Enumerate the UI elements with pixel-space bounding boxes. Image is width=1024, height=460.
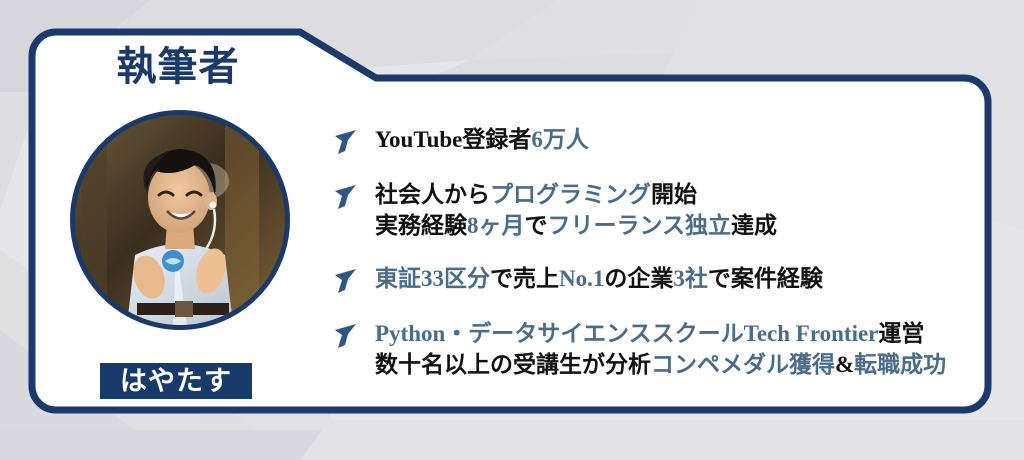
highlighted-text: 6万人 [531,127,589,152]
author-profile-banner: 執筆者 [0,0,1024,460]
highlighted-text: Python・データサイエンススクールTech Frontier [375,321,878,346]
list-item-text: 東証33区分で売上No.1の企業3社で案件経験 [375,263,983,294]
list-item: 社会人からプログラミング開始 実務経験8ヶ月でフリーランス独立達成 [333,179,983,241]
plain-text: YouTube登録者 [375,127,531,152]
cursor-arrow-icon [333,321,359,351]
highlighted-text: フリーランス独立 [548,213,732,238]
avatar-photo [75,115,285,325]
avatar [70,110,290,330]
cursor-arrow-icon [333,266,359,296]
list-item: YouTube登録者6万人 [333,124,983,157]
credentials-list: YouTube登録者6万人 社会人からプログラミング開始 実務経験8ヶ月でフリー… [333,124,983,402]
highlighted-text: プログラミング [490,182,651,207]
plain-text: で [525,213,548,238]
author-card: 執筆者 [28,28,996,418]
highlighted-text: 東証33区分 [375,266,490,291]
author-identity-column: 執筆者 [28,28,328,418]
plain-text: 実務経験 [375,213,467,238]
page-title: 執筆者 [28,44,328,90]
plain-text: で案件経験 [708,266,823,291]
cursor-arrow-icon [333,127,359,157]
plain-text: 社会人から [375,182,490,207]
list-item-text: 社会人からプログラミング開始 実務経験8ヶ月でフリーランス独立達成 [375,179,983,241]
list-item: Python・データサイエンススクールTech Frontier運営 数十名以上… [333,318,983,380]
list-item-text: YouTube登録者6万人 [375,124,983,155]
author-name-badge: はやたす [100,363,252,399]
plain-text: 運営 [878,321,924,346]
plain-text: の企業 [604,266,673,291]
highlighted-text: 8ヶ月 [467,213,525,238]
plain-text: & [835,352,854,377]
plain-text: 達成 [731,213,777,238]
plain-text: 開始 [651,182,697,207]
highlighted-text: No.1 [559,266,604,291]
highlighted-text: 転職成功 [854,352,946,377]
list-item-text: Python・データサイエンススクールTech Frontier運営 数十名以上… [375,318,983,380]
plain-text: で売上 [490,266,559,291]
highlighted-text: コンペメダル獲得 [651,352,835,377]
list-item: 東証33区分で売上No.1の企業3社で案件経験 [333,263,983,296]
highlighted-text: 3社 [673,266,708,291]
plain-text: 数十名以上の受講生が分析 [375,352,651,377]
cursor-arrow-icon [333,182,359,212]
